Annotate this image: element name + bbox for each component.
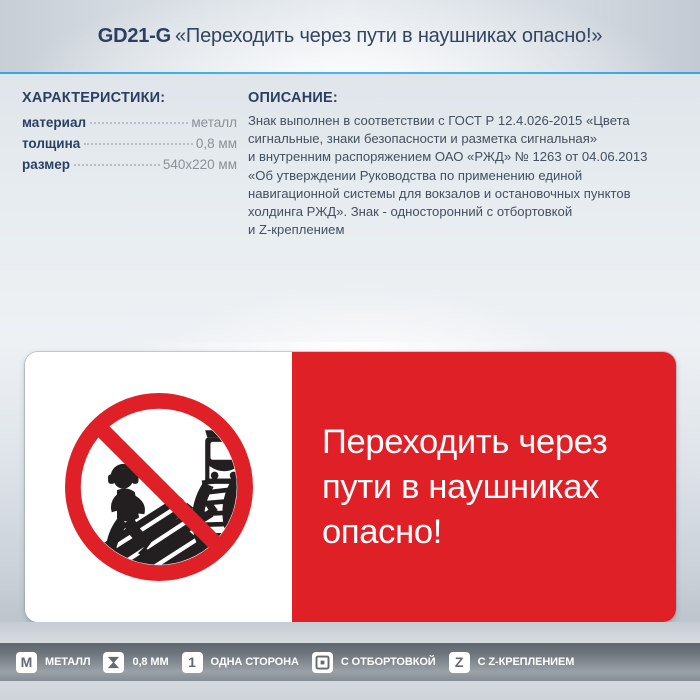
spec-item: 1ОДНА СТОРОНА: [182, 652, 299, 673]
characteristics-list: материалметаллтолщина0,8 ммразмер540x220…: [22, 115, 237, 172]
spec-item: С ОТБОРТОВКОЙ: [312, 652, 436, 673]
z-mount-icon-glyph: Z: [455, 655, 464, 669]
product-code: GD21-G: [98, 25, 171, 48]
leader-dots: [74, 163, 160, 166]
description-text: Знак выполнен в соответствии с ГОСТ Р 12…: [248, 112, 686, 239]
characteristic-value: металл: [191, 115, 237, 130]
sign-message: Переходить черезпути в наушникахопасно!: [322, 420, 607, 555]
description-line: сигнальные, знаки безопасности и разметк…: [248, 130, 686, 148]
metal-icon: M: [16, 652, 37, 673]
spec-footer-bar: MМЕТАЛЛ0,8 ММ1ОДНА СТОРОНАС ОТБОРТОВКОЙZ…: [0, 643, 700, 681]
thickness-glyph: [106, 655, 121, 670]
spec-item: ZС Z-КРЕПЛЕНИЕМ: [449, 652, 575, 673]
sign-message-line: опасно!: [322, 510, 607, 555]
flanged-glyph: [315, 655, 330, 670]
description-line: и Z-креплением: [248, 221, 686, 239]
spec-item: MМЕТАЛЛ: [16, 652, 90, 673]
characteristic-value: 0,8 мм: [196, 136, 237, 151]
characteristic-key: толщина: [22, 136, 80, 151]
spec-label: ОДНА СТОРОНА: [211, 656, 299, 668]
page-title: GD21-G «Переходить через пути в наушника…: [0, 0, 700, 73]
spec-label: МЕТАЛЛ: [45, 656, 90, 668]
characteristic-key: размер: [22, 157, 70, 172]
sign-preview: Переходить черезпути в наушникахопасно!: [25, 352, 676, 622]
product-title: «Переходить через пути в наушниках опасн…: [175, 25, 602, 48]
sign-message-line: Переходить через: [322, 420, 607, 465]
header-bar: GD21-G «Переходить через пути в наушника…: [0, 0, 700, 73]
characteristics-heading: ХАРАКТЕРИСТИКИ:: [22, 90, 237, 106]
one-side-icon: 1: [182, 652, 203, 673]
spec-label: С Z-КРЕПЛЕНИЕМ: [478, 656, 575, 668]
characteristic-row: материалметалл: [22, 115, 237, 130]
leader-dots: [84, 142, 193, 145]
info-band: ХАРАКТЕРИСТИКИ: материалметаллтолщина0,8…: [0, 74, 700, 342]
spec-item: 0,8 ММ: [103, 652, 168, 673]
characteristic-row: толщина0,8 мм: [22, 136, 237, 151]
sign-pictogram-area: [25, 352, 292, 622]
metal-icon-glyph: M: [21, 655, 33, 669]
product-card: GD21-G «Переходить через пути в наушника…: [0, 0, 700, 700]
spec-label: С ОТБОРТОВКОЙ: [341, 656, 436, 668]
description-line: холдинга РЖД». Знак - односторонний с от…: [248, 203, 686, 221]
description-line: навигационной системы для вокзалов и ост…: [248, 185, 686, 203]
one-side-icon-glyph: 1: [188, 655, 196, 669]
no-crossing-tracks-with-headphones-pictogram: [54, 382, 264, 592]
characteristics-block: ХАРАКТЕРИСТИКИ: материалметаллтолщина0,8…: [22, 90, 237, 178]
leader-dots: [90, 121, 188, 124]
description-line: и внутренним распоряжением ОАО «РЖД» № 1…: [248, 148, 686, 166]
sign-text-panel: Переходить черезпути в наушникахопасно!: [292, 352, 676, 622]
spec-label: 0,8 ММ: [132, 656, 168, 668]
sign-message-line: пути в наушниках: [322, 465, 607, 510]
characteristic-key: материал: [22, 115, 86, 130]
characteristic-row: размер540x220 мм: [22, 157, 237, 172]
description-line: Знак выполнен в соответствии с ГОСТ Р 12…: [248, 112, 686, 130]
description-block: ОПИСАНИЕ: Знак выполнен в соответствии с…: [248, 90, 686, 239]
z-mount-icon: Z: [449, 652, 470, 673]
description-line: «Об утверждении Руководства по применени…: [248, 167, 686, 185]
thickness-icon: [103, 652, 124, 673]
flanged-icon: [312, 652, 333, 673]
description-heading: ОПИСАНИЕ:: [248, 90, 686, 106]
characteristic-value: 540x220 мм: [163, 157, 237, 172]
